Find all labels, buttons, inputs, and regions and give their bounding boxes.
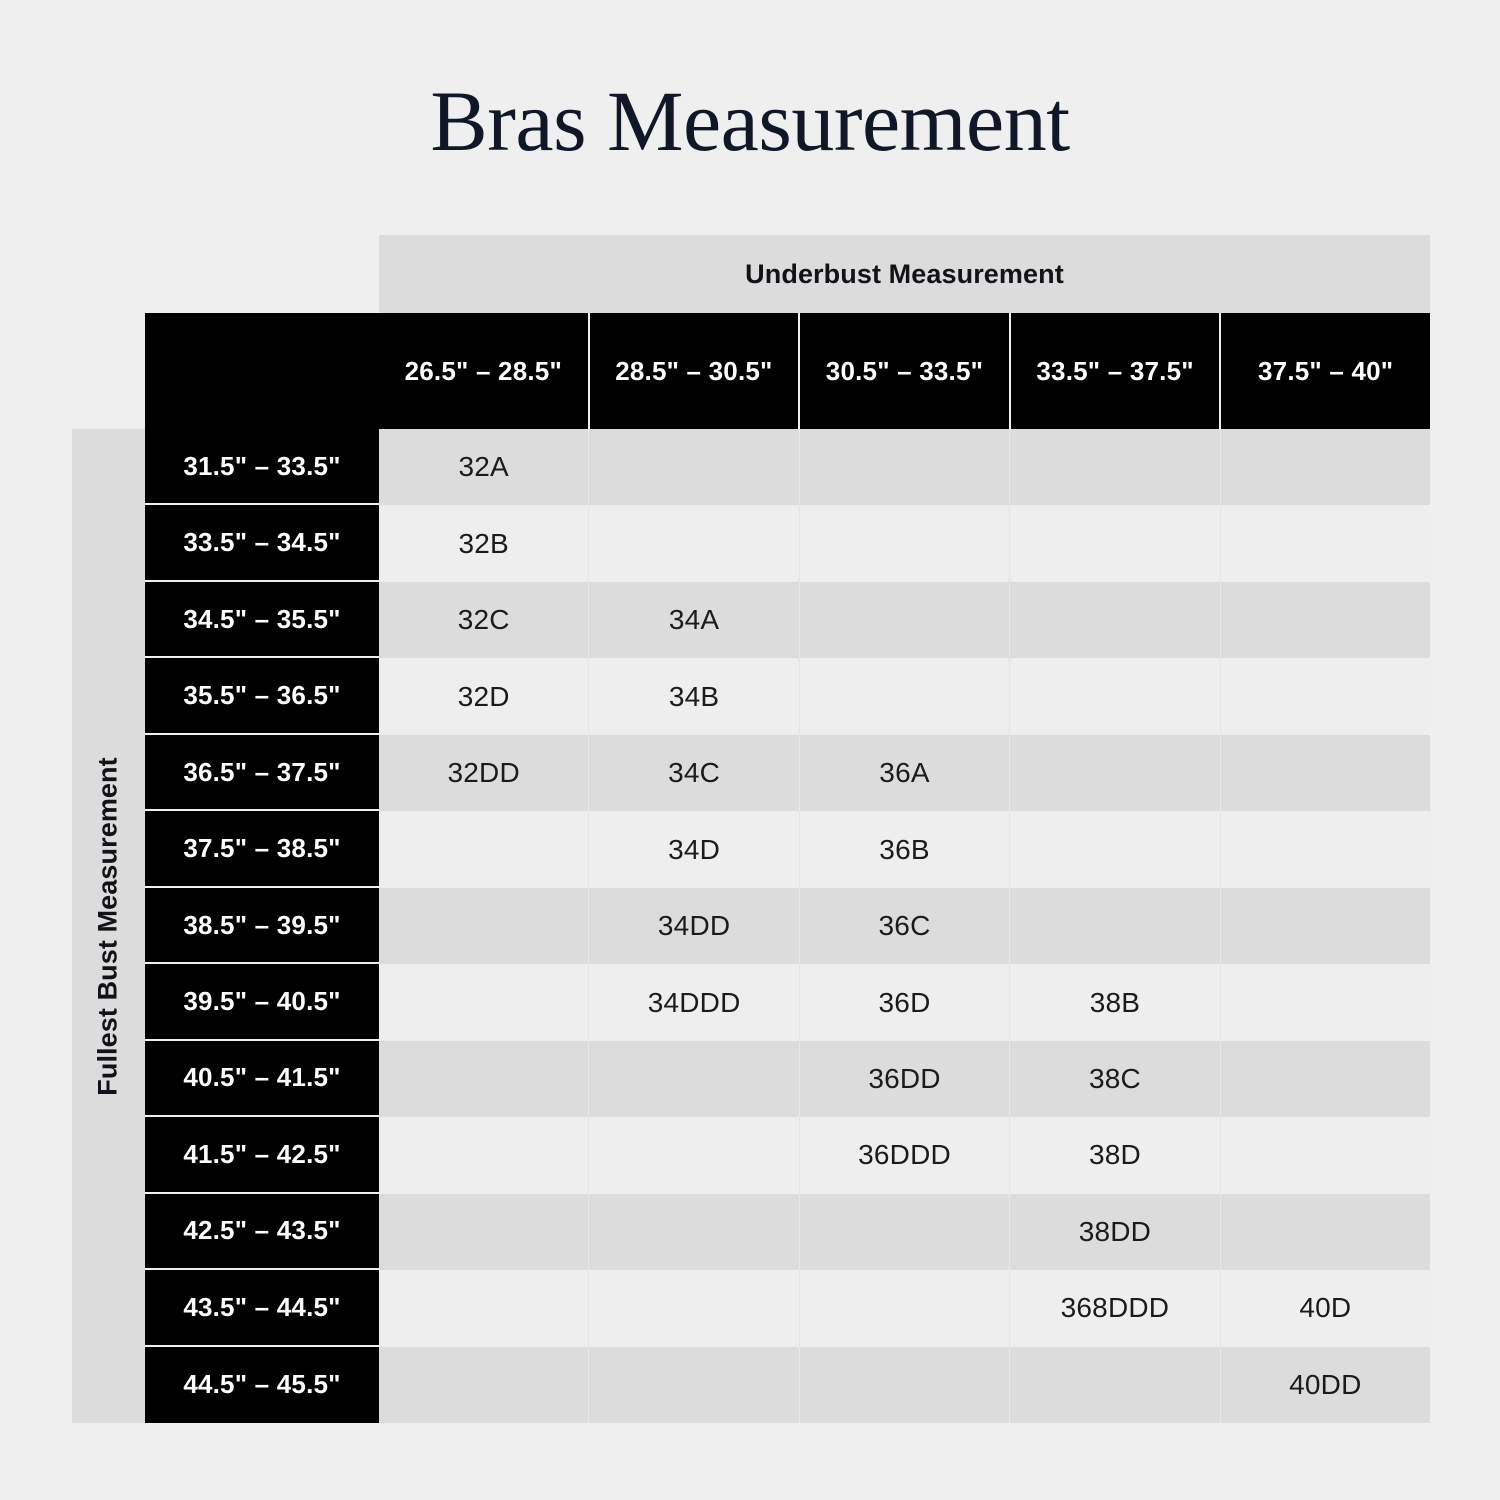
bra-size-cell (1010, 429, 1220, 505)
bra-size-cell (589, 1347, 799, 1423)
table-row: 40.5" – 41.5"36DD38C (145, 1041, 1430, 1117)
bra-size-cell (1010, 735, 1220, 811)
table-row: 35.5" – 36.5"32D34B (145, 658, 1430, 734)
row-header-cell: 33.5" – 34.5" (145, 505, 379, 581)
row-header-cell: 38.5" – 39.5" (145, 888, 379, 964)
bra-size-cell (1221, 1194, 1430, 1270)
bra-size-cell (379, 1117, 589, 1193)
row-header-cell: 43.5" – 44.5" (145, 1270, 379, 1346)
bra-size-cell: 36B (800, 811, 1010, 887)
bra-size-cell (1010, 1347, 1220, 1423)
bra-size-cell: 36A (800, 735, 1010, 811)
bra-size-cell (800, 1194, 1010, 1270)
row-header-cell: 34.5" – 35.5" (145, 582, 379, 658)
size-chart-body: 31.5" – 33.5"32A33.5" – 34.5"32B34.5" – … (145, 429, 1430, 1423)
table-row: 38.5" – 39.5"34DD36C (145, 888, 1430, 964)
bra-size-cell (379, 811, 589, 887)
bra-size-cell: 34B (589, 658, 799, 734)
row-data-cells: 368DDD40D (379, 1270, 1430, 1346)
column-header-cell: 28.5" – 30.5" (590, 313, 801, 429)
bra-size-cell (379, 1347, 589, 1423)
bra-size-cell (1010, 658, 1220, 734)
bra-size-cell (1221, 888, 1430, 964)
row-data-cells: 34DDD36D38B (379, 964, 1430, 1040)
bra-size-cell (379, 1270, 589, 1346)
bra-size-cell: 40DD (1221, 1347, 1430, 1423)
bra-size-cell: 32D (379, 658, 589, 734)
row-data-cells: 34D36B (379, 811, 1430, 887)
table-row: 33.5" – 34.5"32B (145, 505, 1430, 581)
row-data-cells: 36DD38C (379, 1041, 1430, 1117)
row-header-cell: 36.5" – 37.5" (145, 735, 379, 811)
row-header-cell: 37.5" – 38.5" (145, 811, 379, 887)
bra-size-cell: 40D (1221, 1270, 1430, 1346)
row-data-cells: 40DD (379, 1347, 1430, 1423)
bra-size-cell: 38C (1010, 1041, 1220, 1117)
bra-size-cell (1221, 1041, 1430, 1117)
bra-size-cell: 34DD (589, 888, 799, 964)
table-corner-block (145, 313, 379, 429)
bra-size-cell (589, 1270, 799, 1346)
bra-size-cell: 34DDD (589, 964, 799, 1040)
table-row: 41.5" – 42.5"36DDD38D (145, 1117, 1430, 1193)
bra-size-cell (800, 429, 1010, 505)
bra-size-cell (1221, 964, 1430, 1040)
bra-size-cell (1010, 582, 1220, 658)
bra-size-cell: 34D (589, 811, 799, 887)
bra-size-cell (800, 505, 1010, 581)
row-data-cells: 34DD36C (379, 888, 1430, 964)
bra-size-cell: 36DD (800, 1041, 1010, 1117)
bra-size-cell (800, 1347, 1010, 1423)
row-header-cell: 35.5" – 36.5" (145, 658, 379, 734)
row-data-cells: 38DD (379, 1194, 1430, 1270)
row-header-cell: 44.5" – 45.5" (145, 1347, 379, 1423)
bra-size-cell: 368DDD (1010, 1270, 1220, 1346)
bra-size-cell (1221, 1117, 1430, 1193)
table-row: 39.5" – 40.5"34DDD36D38B (145, 964, 1430, 1040)
row-data-cells: 32C34A (379, 582, 1430, 658)
fullest-bust-axis-band: Fullest Bust Measurement (72, 429, 145, 1423)
column-header-row: 26.5" – 28.5"28.5" – 30.5"30.5" – 33.5"3… (379, 313, 1430, 429)
bra-size-cell (379, 1041, 589, 1117)
bra-size-cell: 38B (1010, 964, 1220, 1040)
bra-size-cell (1221, 658, 1430, 734)
bra-size-cell (1010, 811, 1220, 887)
row-data-cells: 32DD34C36A (379, 735, 1430, 811)
bra-size-cell (1221, 429, 1430, 505)
table-row: 31.5" – 33.5"32A (145, 429, 1430, 505)
bra-size-cell: 38DD (1010, 1194, 1220, 1270)
bra-size-cell (589, 1041, 799, 1117)
bra-size-cell (800, 1270, 1010, 1346)
bra-size-cell (589, 505, 799, 581)
bra-size-cell (379, 888, 589, 964)
bra-size-cell: 36DDD (800, 1117, 1010, 1193)
bra-size-cell (589, 429, 799, 505)
table-row: 34.5" – 35.5"32C34A (145, 582, 1430, 658)
row-header-cell: 41.5" – 42.5" (145, 1117, 379, 1193)
table-row: 44.5" – 45.5"40DD (145, 1347, 1430, 1423)
row-data-cells: 32A (379, 429, 1430, 505)
bra-size-cell (589, 1194, 799, 1270)
bra-size-cell: 32C (379, 582, 589, 658)
table-row: 42.5" – 43.5"38DD (145, 1194, 1430, 1270)
bra-size-cell (1221, 505, 1430, 581)
bra-size-cell: 38D (1010, 1117, 1220, 1193)
row-header-cell: 40.5" – 41.5" (145, 1041, 379, 1117)
underbust-axis-label: Underbust Measurement (745, 259, 1064, 290)
row-data-cells: 32B (379, 505, 1430, 581)
page-title: Bras Measurement (0, 78, 1500, 164)
row-header-cell: 31.5" – 33.5" (145, 429, 379, 505)
bra-size-cell (1221, 582, 1430, 658)
row-data-cells: 32D34B (379, 658, 1430, 734)
bra-size-cell: 32B (379, 505, 589, 581)
column-header-cell: 26.5" – 28.5" (379, 313, 590, 429)
table-row: 37.5" – 38.5"34D36B (145, 811, 1430, 887)
row-data-cells: 36DDD38D (379, 1117, 1430, 1193)
table-row: 36.5" – 37.5"32DD34C36A (145, 735, 1430, 811)
row-header-cell: 39.5" – 40.5" (145, 964, 379, 1040)
underbust-axis-band: Underbust Measurement (379, 235, 1430, 313)
bra-size-cell (1221, 811, 1430, 887)
bra-size-cell: 34A (589, 582, 799, 658)
bra-size-cell: 32DD (379, 735, 589, 811)
fullest-bust-axis-label: Fullest Bust Measurement (93, 757, 124, 1095)
row-header-cell: 42.5" – 43.5" (145, 1194, 379, 1270)
bra-size-cell (1010, 505, 1220, 581)
bra-size-cell: 36D (800, 964, 1010, 1040)
table-row: 43.5" – 44.5"368DDD40D (145, 1270, 1430, 1346)
bra-size-cell (379, 1194, 589, 1270)
bra-size-cell (589, 1117, 799, 1193)
bra-size-cell (800, 658, 1010, 734)
bra-size-cell (379, 964, 589, 1040)
bra-size-cell: 36C (800, 888, 1010, 964)
size-chart-page: Bras Measurement Underbust Measurement F… (0, 0, 1500, 1500)
column-header-cell: 33.5" – 37.5" (1011, 313, 1222, 429)
bra-size-cell: 32A (379, 429, 589, 505)
column-header-cell: 30.5" – 33.5" (800, 313, 1011, 429)
bra-size-cell: 34C (589, 735, 799, 811)
bra-size-cell (800, 582, 1010, 658)
bra-size-cell (1221, 735, 1430, 811)
column-header-cell: 37.5" – 40" (1221, 313, 1430, 429)
bra-size-cell (1010, 888, 1220, 964)
